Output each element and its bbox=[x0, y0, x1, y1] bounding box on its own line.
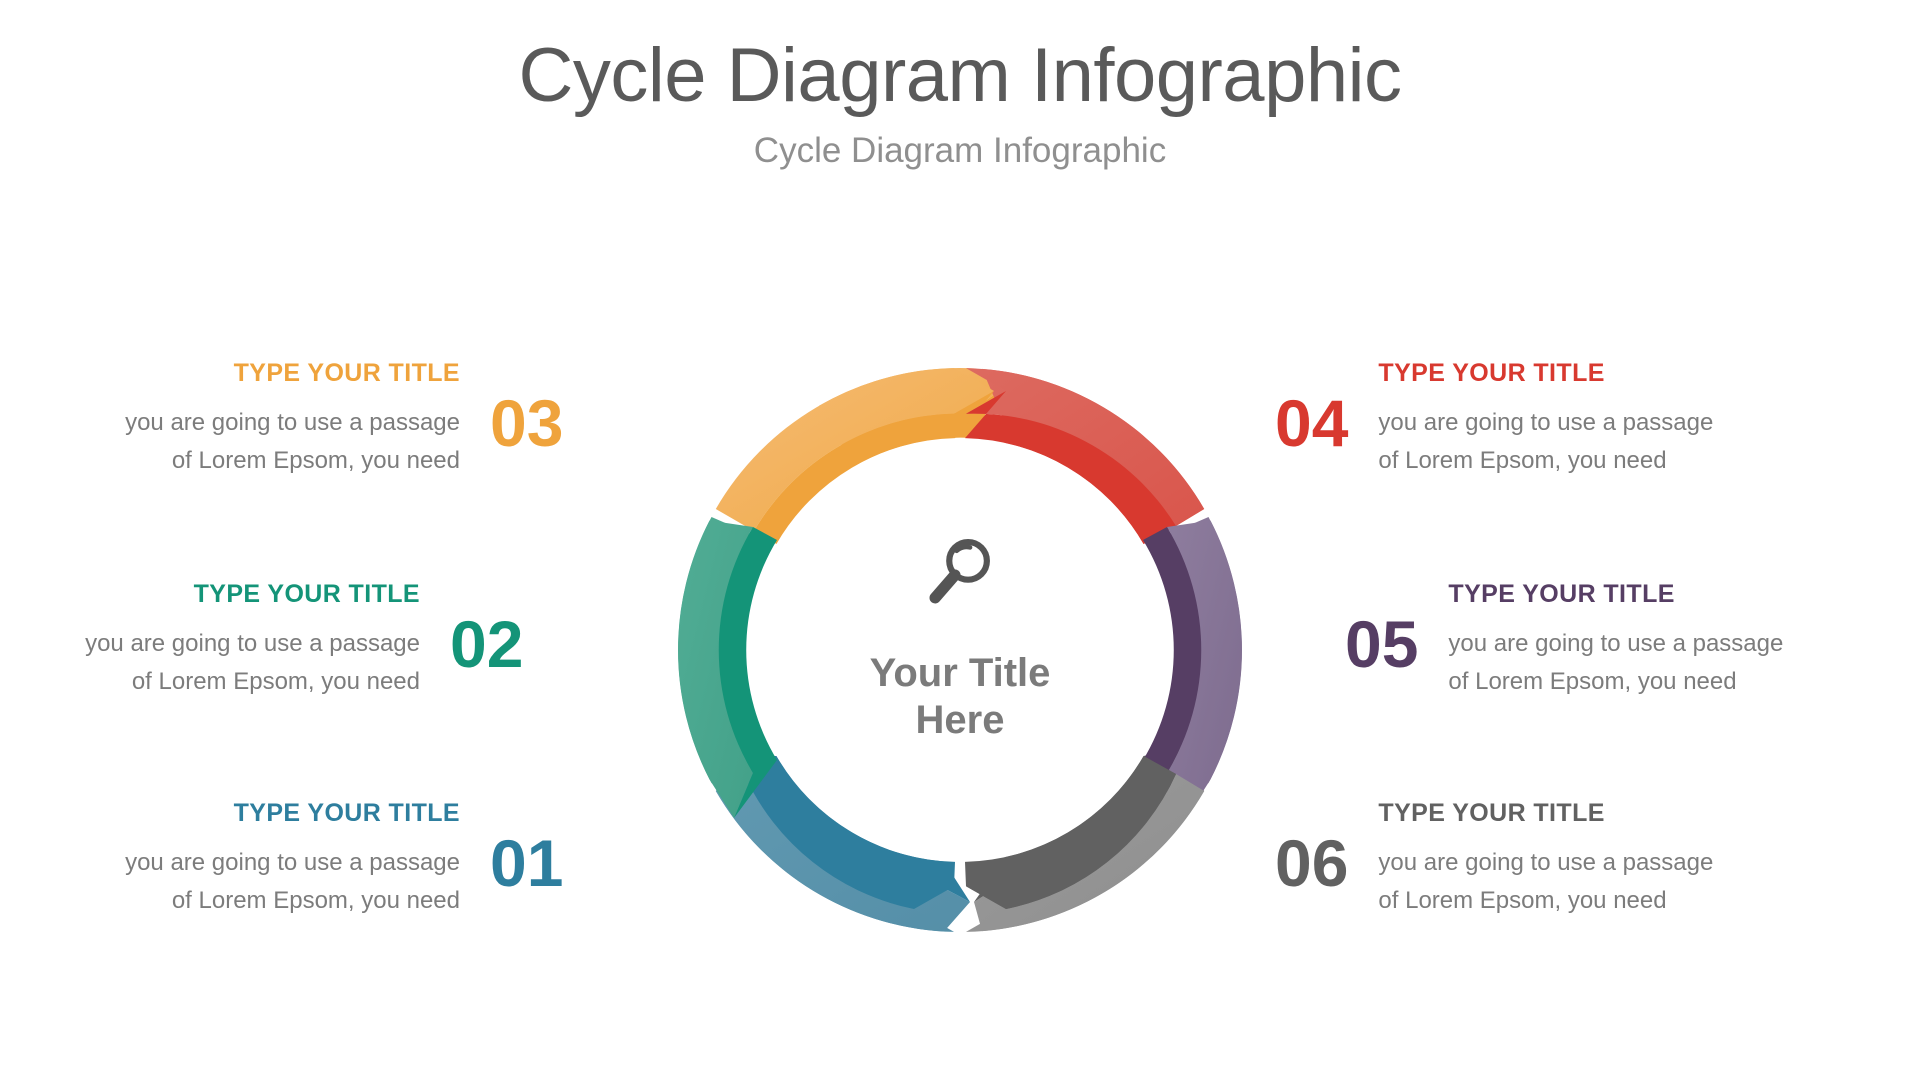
segment-info-05[interactable]: 05 TYPE YOUR TITLE you are going to use … bbox=[1345, 581, 1868, 702]
segment-info-06[interactable]: 06 TYPE YOUR TITLE you are going to use … bbox=[1275, 800, 1798, 921]
segment-text-04: TYPE YOUR TITLE you are going to use a p… bbox=[1378, 360, 1798, 481]
segment-number-05: 05 bbox=[1345, 611, 1418, 677]
segment-number-06: 06 bbox=[1275, 830, 1348, 896]
segment-03-arrow[interactable] bbox=[716, 368, 994, 544]
segment-title-04: TYPE YOUR TITLE bbox=[1378, 360, 1798, 388]
segment-desc-05: you are going to use a passage of Lorem … bbox=[1448, 625, 1868, 703]
segment-text-06: TYPE YOUR TITLE you are going to use a p… bbox=[1378, 800, 1798, 921]
segment-title-02: TYPE YOUR TITLE bbox=[0, 581, 420, 609]
segment-info-02[interactable]: TYPE YOUR TITLE you are going to use a p… bbox=[0, 581, 523, 702]
magnifier-icon bbox=[917, 530, 1003, 616]
center-block: Your Title Here bbox=[790, 530, 1130, 744]
segment-info-03[interactable]: TYPE YOUR TITLE you are going to use a p… bbox=[40, 360, 563, 481]
segment-02-arrow[interactable] bbox=[678, 521, 777, 819]
segment-desc-04: you are going to use a passage of Lorem … bbox=[1378, 404, 1798, 482]
segment-desc-01: you are going to use a passage of Lorem … bbox=[40, 844, 460, 922]
segment-title-05: TYPE YOUR TITLE bbox=[1448, 581, 1868, 609]
center-title: Your Title Here bbox=[790, 650, 1130, 744]
segment-desc-06: you are going to use a passage of Lorem … bbox=[1378, 844, 1798, 922]
segment-04-arrow[interactable] bbox=[965, 368, 1204, 544]
segment-info-04[interactable]: 04 TYPE YOUR TITLE you are going to use … bbox=[1275, 360, 1798, 481]
segment-06-arrow[interactable] bbox=[965, 756, 1204, 932]
segment-number-02: 02 bbox=[450, 611, 523, 677]
segment-title-03: TYPE YOUR TITLE bbox=[40, 360, 460, 388]
segment-text-01: TYPE YOUR TITLE you are going to use a p… bbox=[40, 800, 460, 921]
cycle-diagram: Your Title Here TYPE YOUR TITLE you are … bbox=[0, 0, 1920, 1080]
segment-info-01[interactable]: TYPE YOUR TITLE you are going to use a p… bbox=[40, 800, 563, 921]
segment-number-04: 04 bbox=[1275, 390, 1348, 456]
segment-title-06: TYPE YOUR TITLE bbox=[1378, 800, 1798, 828]
segment-title-01: TYPE YOUR TITLE bbox=[40, 800, 460, 828]
segment-text-03: TYPE YOUR TITLE you are going to use a p… bbox=[40, 360, 460, 481]
segment-number-01: 01 bbox=[490, 830, 563, 896]
segment-desc-03: you are going to use a passage of Lorem … bbox=[40, 404, 460, 482]
segment-text-02: TYPE YOUR TITLE you are going to use a p… bbox=[0, 581, 420, 702]
segment-text-05: TYPE YOUR TITLE you are going to use a p… bbox=[1448, 581, 1868, 702]
segment-number-03: 03 bbox=[490, 390, 563, 456]
segment-desc-02: you are going to use a passage of Lorem … bbox=[0, 625, 420, 703]
